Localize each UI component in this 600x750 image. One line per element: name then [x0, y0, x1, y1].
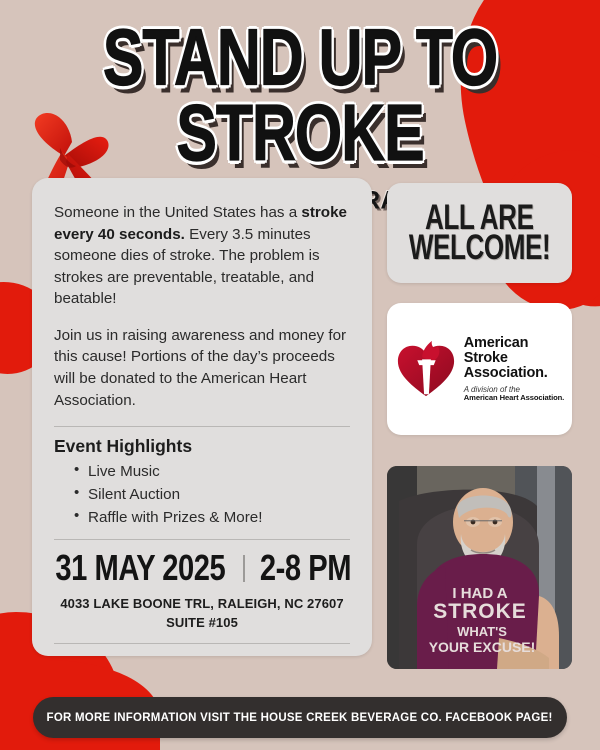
list-item: Live Music [74, 460, 350, 483]
event-photo: I HAD A STROKE WHAT'S YOUR EXCUSE! [387, 466, 572, 669]
event-time: 2-8 PM [260, 547, 351, 589]
paragraph-statistics: Someone in the United States has a strok… [54, 202, 350, 310]
flyer-canvas: STAND UP TO STROKE 3RD ANNUAL FUNDRAISER… [0, 0, 600, 750]
logo-division-line-2: American Heart Association. [464, 394, 564, 402]
photo-illustration: I HAD A STROKE WHAT'S YOUR EXCUSE! [387, 466, 572, 669]
event-highlights-list: Live Music Silent Auction Raffle with Pr… [54, 460, 350, 529]
event-date: 31 MAY 2025 [56, 547, 226, 589]
logo-wordmark: American Stroke Association. A division … [464, 336, 564, 403]
list-item: Silent Auction [74, 483, 350, 506]
more-info-banner: FOR MORE INFORMATION VISIT THE HOUSE CRE… [33, 697, 567, 738]
address-line-1: 4033 LAKE BOONE TRL, RALEIGH, NC 27607 [32, 595, 372, 614]
body-copy: Someone in the United States has a strok… [32, 178, 372, 411]
datetime-separator [243, 555, 245, 582]
event-datetime: 31 MAY 2025 2-8 PM [32, 550, 372, 586]
stat-lead-text: Someone in the United States has a [54, 204, 301, 221]
logo-card: American Stroke Association. A division … [387, 303, 572, 435]
divider-middle [54, 539, 350, 540]
welcome-line-2: WELCOME! [409, 230, 550, 267]
paragraph-call-to-action: Join us in raising awareness and money f… [54, 325, 350, 411]
more-info-text: FOR MORE INFORMATION VISIT THE HOUSE CRE… [47, 711, 553, 724]
logo-line-2: Stroke [464, 351, 564, 366]
info-card: Someone in the United States has a strok… [32, 178, 372, 656]
divider-bottom [54, 643, 350, 644]
event-address: 4033 LAKE BOONE TRL, RALEIGH, NC 27607 S… [32, 595, 372, 633]
logo-line-1: American [464, 336, 564, 351]
address-line-2: SUITE #105 [32, 614, 372, 633]
event-highlights-section: Event Highlights Live Music Silent Aucti… [32, 427, 372, 535]
all-are-welcome-card: ALL ARE WELCOME! [387, 183, 572, 283]
list-item: Raffle with Prizes & More! [74, 506, 350, 529]
event-highlights-heading: Event Highlights [54, 436, 350, 457]
heart-torch-icon [395, 338, 457, 400]
logo-line-3: Association. [464, 366, 564, 381]
